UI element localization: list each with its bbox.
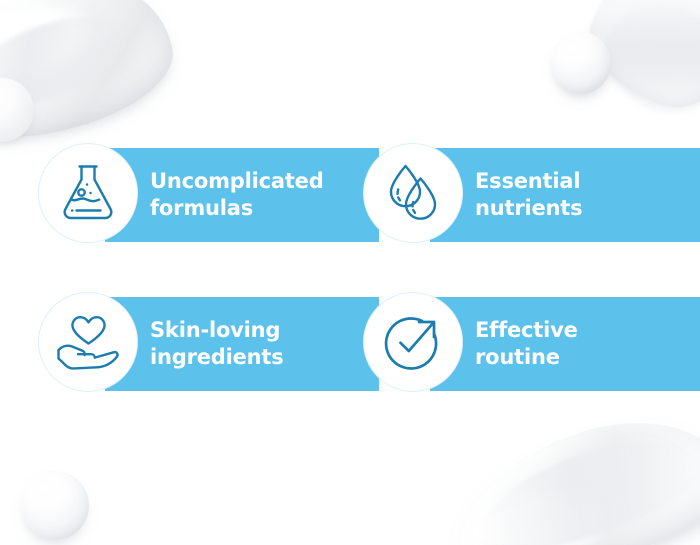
flask-icon <box>59 162 117 224</box>
arrow-check-circle-icon <box>382 311 444 373</box>
infographic-canvas: Uncomplicated formulas Essential nutrien… <box>0 0 700 545</box>
heart-in-hand-icon <box>55 313 121 371</box>
benefits-card-grid: Uncomplicated formulas Essential nutrien… <box>0 0 700 545</box>
benefit-card-icon-badge <box>363 143 463 243</box>
benefit-card-label: Effective routine <box>475 297 697 391</box>
benefit-card-label: Essential nutrients <box>475 148 697 242</box>
water-drops-icon <box>382 163 444 223</box>
benefit-card-essential-nutrients[interactable]: Essential nutrients <box>363 143 666 247</box>
benefit-card-effective-routine[interactable]: Effective routine <box>363 292 666 396</box>
benefit-card-uncomplicated-formulas[interactable]: Uncomplicated formulas <box>38 143 341 247</box>
benefit-card-label: Uncomplicated formulas <box>150 148 372 242</box>
benefit-card-icon-badge <box>38 143 138 243</box>
benefit-card-icon-badge <box>38 292 138 392</box>
benefit-card-skin-loving-ingredients[interactable]: Skin-loving ingredients <box>38 292 341 396</box>
benefit-card-icon-badge <box>363 292 463 392</box>
benefit-card-label: Skin-loving ingredients <box>150 297 372 391</box>
